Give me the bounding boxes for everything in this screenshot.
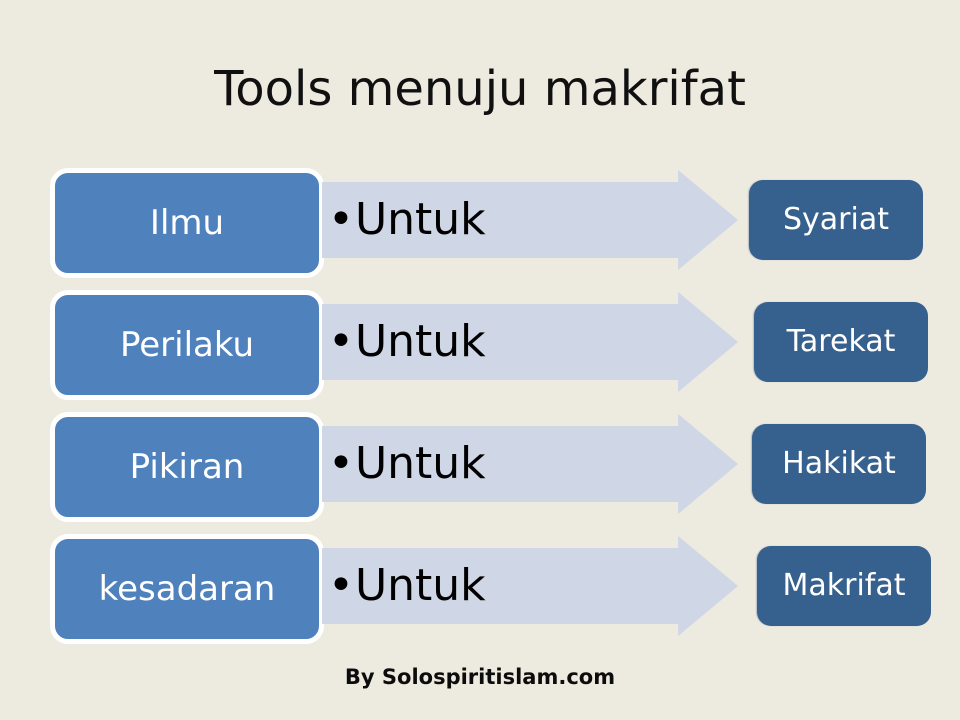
stage-box-label: Makrifat [782,569,905,603]
connector-label-group: • Untuk [328,536,708,636]
stage-box-syariat[interactable]: Syariat [749,180,923,260]
diagram-row: kesadaran • Untuk Makrifat [0,526,960,646]
tool-box-kesadaran[interactable]: kesadaran [50,534,324,644]
tool-box-ilmu[interactable]: Ilmu [50,168,324,278]
stage-box-hakikat[interactable]: Hakikat [752,424,926,504]
bullet-icon: • [328,562,354,610]
connector-label: Untuk [355,440,486,488]
connector-label-group: • Untuk [328,292,708,392]
bullet-icon: • [328,196,354,244]
diagram-row: Perilaku • Untuk Tarekat [0,282,960,402]
tool-box-label: Pikiran [130,448,245,486]
bullet-icon: • [328,318,354,366]
tool-box-pikiran[interactable]: Pikiran [50,412,324,522]
stage-box-label: Syariat [783,203,889,237]
connector-label-group: • Untuk [328,414,708,514]
connector-label: Untuk [355,318,486,366]
connector-label-group: • Untuk [328,170,708,270]
diagram-row: Ilmu • Untuk Syariat [0,160,960,280]
tool-box-label: kesadaran [99,570,276,608]
stage-box-label: Hakikat [782,447,896,481]
diagram-row: Pikiran • Untuk Hakikat [0,404,960,524]
slide-canvas: Tools menuju makrifat Ilmu • Untuk Syari… [0,0,960,720]
connector-label: Untuk [355,562,486,610]
tool-box-perilaku[interactable]: Perilaku [50,290,324,400]
stage-box-makrifat[interactable]: Makrifat [757,546,931,626]
connector-label: Untuk [355,196,486,244]
footer-credit: By Solospiritislam.com [0,664,960,690]
tool-box-label: Ilmu [150,204,224,242]
stage-box-tarekat[interactable]: Tarekat [754,302,928,382]
bullet-icon: • [328,440,354,488]
page-title: Tools menuju makrifat [0,60,960,118]
tool-box-label: Perilaku [120,326,254,364]
stage-box-label: Tarekat [787,325,896,359]
